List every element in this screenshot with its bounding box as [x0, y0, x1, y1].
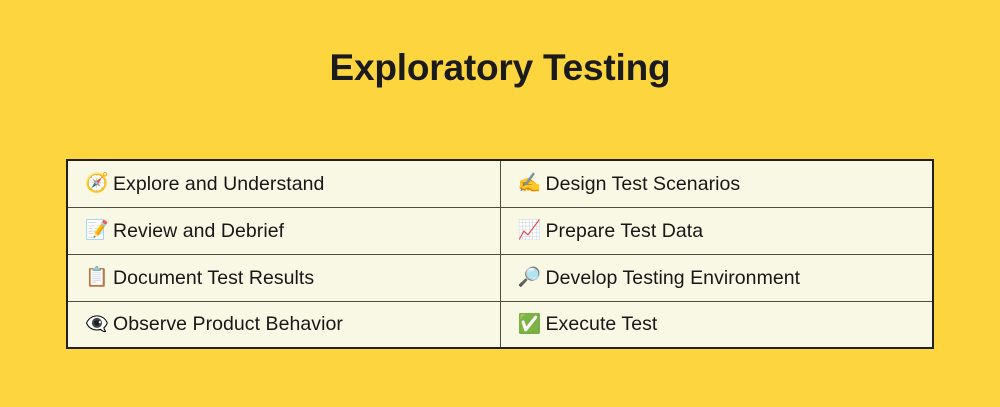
table-row: 👁️‍🗨️ Observe Product Behavior ✅ Execute… — [67, 301, 933, 348]
table-cell-observe-product-behavior[interactable]: 👁️‍🗨️ Observe Product Behavior — [67, 301, 500, 348]
table-row: 📋 Document Test Results 🔎 Develop Testin… — [67, 254, 933, 301]
activity-label: Design Test Scenarios — [546, 173, 741, 195]
table-cell-explore-and-understand[interactable]: 🧭 Explore and Understand — [67, 160, 500, 207]
table-cell-execute-test[interactable]: ✅ Execute Test — [500, 301, 933, 348]
activity-label: Execute Test — [546, 313, 658, 335]
table-cell-develop-testing-environment[interactable]: 🔎 Develop Testing Environment — [500, 254, 933, 301]
table-cell-document-test-results[interactable]: 📋 Document Test Results — [67, 254, 500, 301]
activity-label: Document Test Results — [113, 267, 314, 289]
activity-label: Explore and Understand — [113, 173, 324, 195]
activity-label: Observe Product Behavior — [113, 313, 343, 335]
activity-label: Develop Testing Environment — [546, 267, 801, 289]
table-cell-review-and-debrief[interactable]: 📝 Review and Debrief — [67, 207, 500, 254]
eye-in-speech-bubble-icon: 👁️‍🗨️ — [85, 315, 107, 334]
page-title: Exploratory Testing — [0, 45, 1000, 91]
chart-increasing-icon: 📈 — [518, 221, 540, 240]
check-mark-button-icon: ✅ — [518, 315, 540, 334]
table-row: 🧭 Explore and Understand ✍️ Design Test … — [67, 160, 933, 207]
exploratory-testing-poster: Exploratory Testing 🧭 Explore and Unders… — [0, 0, 1000, 407]
activities-table: 🧭 Explore and Understand ✍️ Design Test … — [66, 159, 934, 349]
activity-label: Prepare Test Data — [546, 220, 704, 242]
table-row: 📝 Review and Debrief 📈 Prepare Test Data — [67, 207, 933, 254]
magnifying-glass-icon: 🔎 — [518, 268, 540, 287]
writing-hand-icon: ✍️ — [518, 174, 540, 193]
memo-icon: 📝 — [85, 221, 107, 240]
clipboard-icon: 📋 — [85, 268, 107, 287]
activity-label: Review and Debrief — [113, 220, 284, 242]
table-cell-prepare-test-data[interactable]: 📈 Prepare Test Data — [500, 207, 933, 254]
compass-icon: 🧭 — [85, 174, 107, 193]
table-cell-design-test-scenarios[interactable]: ✍️ Design Test Scenarios — [500, 160, 933, 207]
